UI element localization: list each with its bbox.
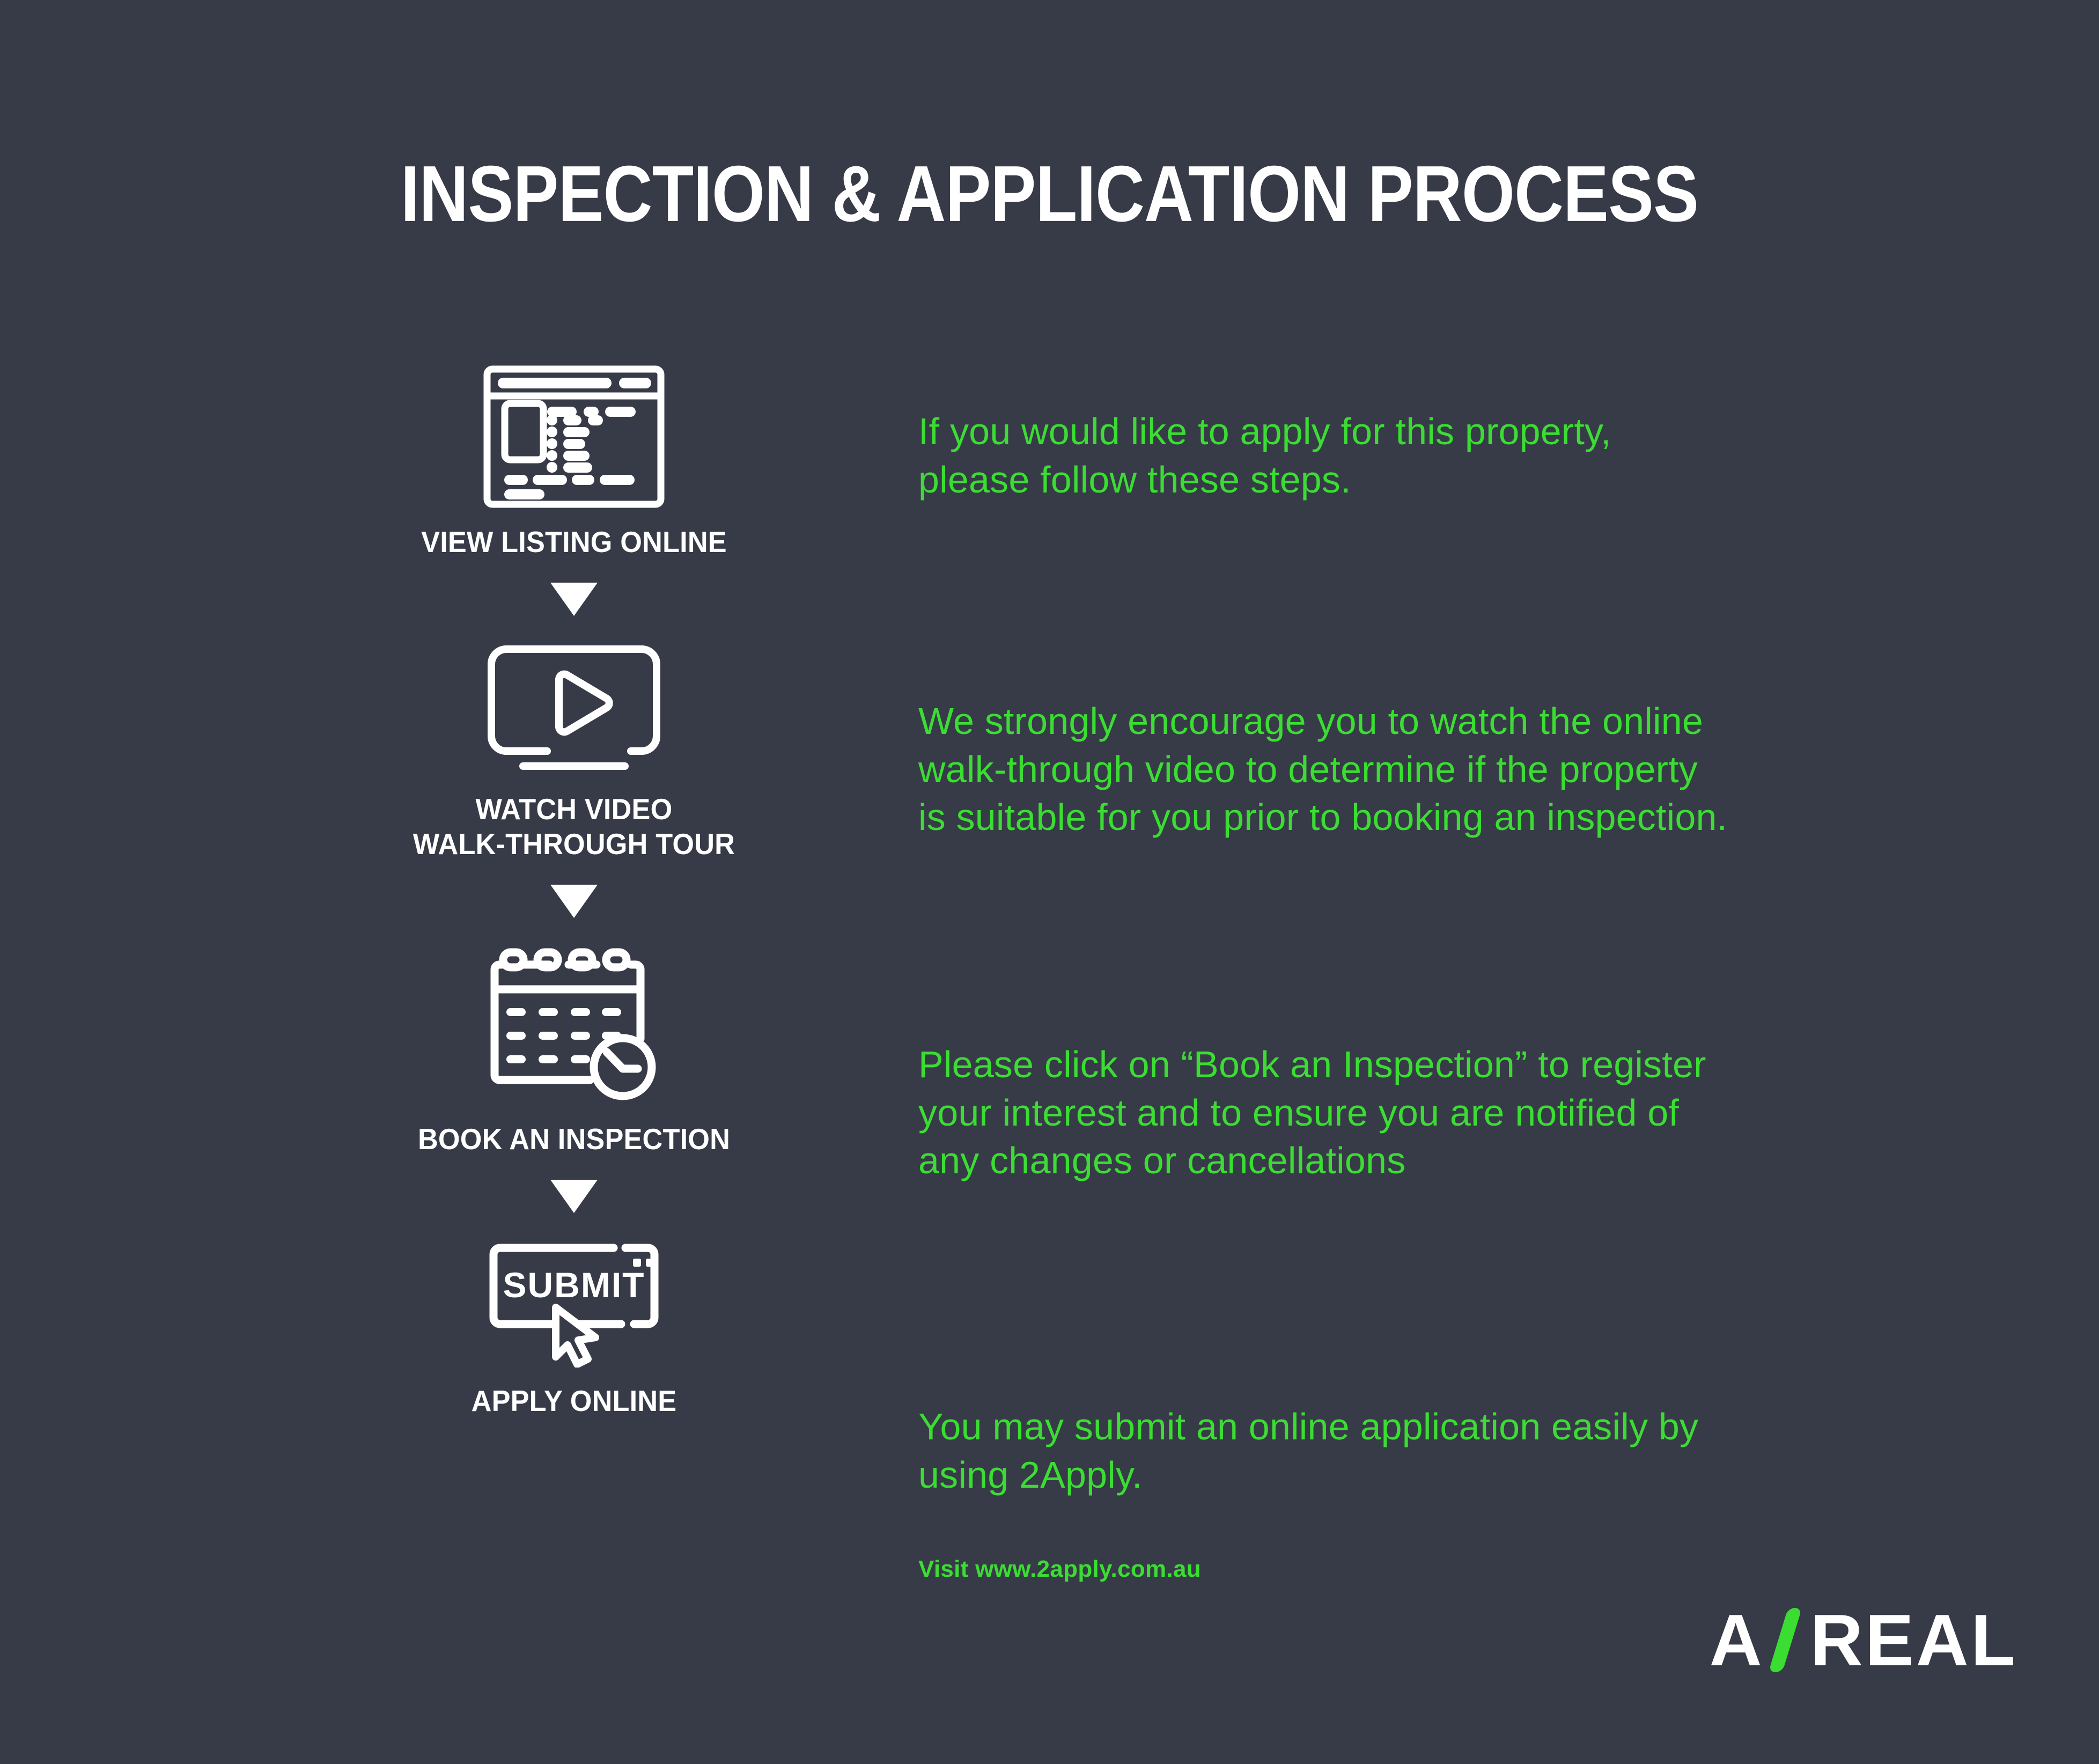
video-player-icon: [370, 637, 778, 776]
copy-line: You may submit an online application eas…: [918, 1403, 1698, 1451]
copy-block-intro: If you would like to apply for this prop…: [918, 408, 1611, 504]
logo-letter-a: A: [1710, 1604, 1764, 1677]
page-title: INSPECTION & APPLICATION PROCESS: [147, 155, 1952, 234]
copy-line: is suitable for you prior to booking an …: [918, 793, 1727, 842]
copy-line: Please click on “Book an Inspection” to …: [918, 1041, 1706, 1089]
copy-block-apply: You may submit an online application eas…: [918, 1403, 1698, 1499]
flow-step-apply-online: SUBMIT APPLY ONLINE: [370, 1234, 778, 1418]
copy-line: using 2Apply.: [918, 1451, 1698, 1500]
copy-block-inspection: Please click on “Book an Inspection” to …: [918, 1041, 1706, 1185]
infographic-canvas: INSPECTION & APPLICATION PROCESS: [0, 0, 2099, 1764]
flow-step-watch-video: WATCH VIDEO WALK-THROUGH TOUR: [370, 637, 778, 861]
flow-step-label-line2: WALK-THROUGH TOUR: [380, 827, 768, 861]
flow-step-label: BOOK AN INSPECTION: [380, 1122, 768, 1156]
visit-url-text[interactable]: Visit www.2apply.com.au: [918, 1556, 1201, 1583]
logo-word-real: REAL: [1810, 1604, 2017, 1677]
copy-line: If you would like to apply for this prop…: [918, 408, 1611, 456]
process-flow-column: VIEW LISTING ONLINE WATCH VIDEO WALK-THR…: [370, 365, 778, 1418]
down-arrow-icon: [370, 583, 778, 616]
copy-line: walk-through video to determine if the p…: [918, 746, 1727, 794]
submit-icon-text: SUBMIT: [503, 1265, 645, 1305]
calendar-clock-icon: [370, 939, 778, 1106]
down-arrow-icon: [370, 1180, 778, 1213]
flow-step-view-listing: VIEW LISTING ONLINE: [370, 365, 778, 559]
brand-logo: A REAL: [1710, 1600, 2017, 1680]
copy-block-video: We strongly encourage you to watch the o…: [918, 697, 1727, 842]
flow-step-label-line1: WATCH VIDEO: [380, 792, 768, 826]
copy-line: please follow these steps.: [918, 456, 1611, 504]
green-slash-icon: [1768, 1608, 1802, 1672]
flow-step-book-inspection: BOOK AN INSPECTION: [370, 939, 778, 1156]
flow-step-label: WATCH VIDEO WALK-THROUGH TOUR: [380, 792, 768, 861]
flow-step-label: VIEW LISTING ONLINE: [380, 525, 768, 559]
copy-line: We strongly encourage you to watch the o…: [918, 697, 1727, 746]
browser-listing-icon: [370, 365, 778, 509]
submit-button-cursor-icon: SUBMIT: [370, 1234, 778, 1368]
copy-line: your interest and to ensure you are noti…: [918, 1089, 1706, 1137]
down-arrow-icon: [370, 885, 778, 918]
flow-step-label: APPLY ONLINE: [380, 1384, 768, 1418]
copy-line: any changes or cancellations: [918, 1137, 1706, 1185]
